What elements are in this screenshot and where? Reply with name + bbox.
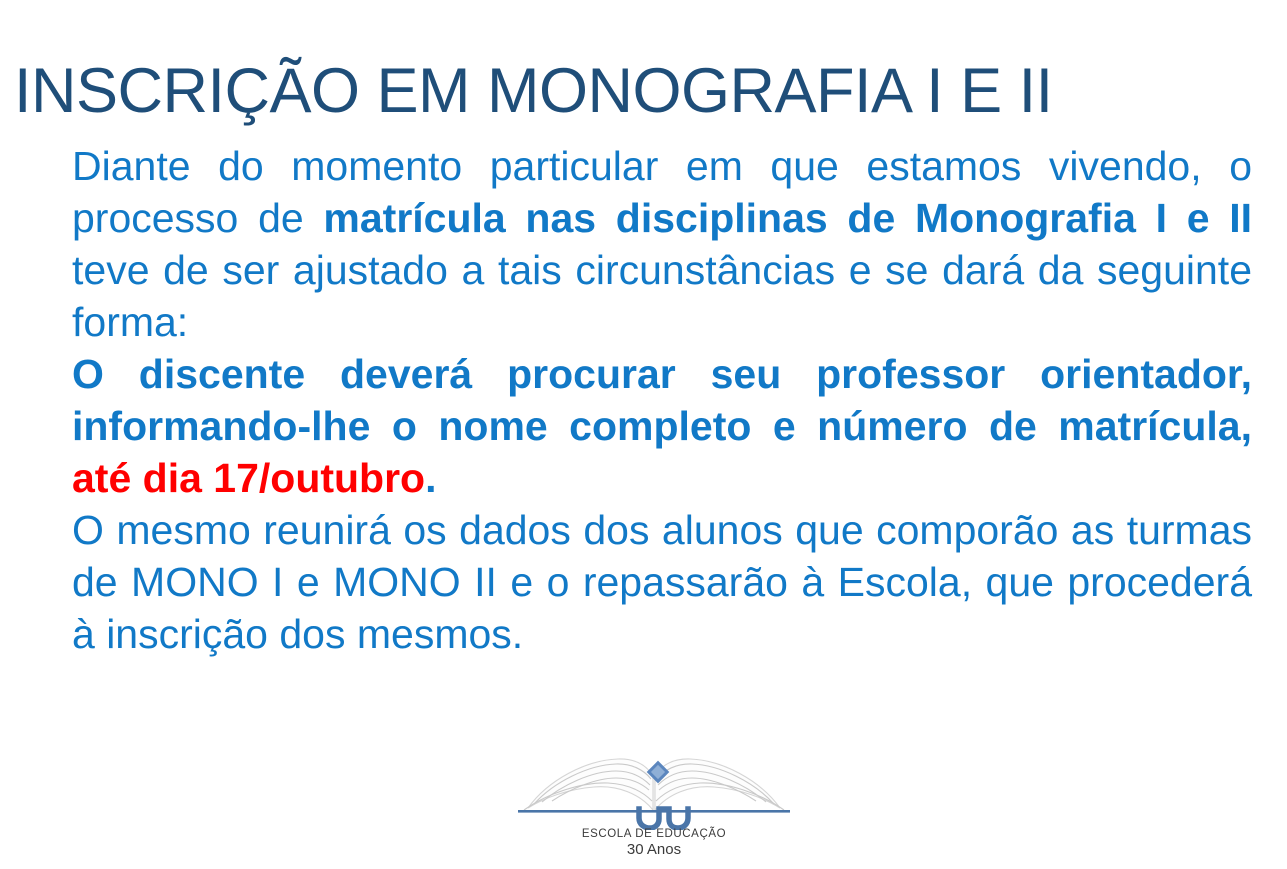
run-3a: O mesmo reunirá os dados dos alunos que …: [72, 507, 1252, 657]
logo-caption: ESCOLA DE EDUCAÇÃO 30 Anos: [508, 828, 800, 858]
book-spine: [653, 776, 655, 812]
deadline-highlight: até dia 17/outubro: [72, 455, 425, 501]
run-1c: teve de ser ajustado a tais circunstânci…: [72, 247, 1252, 345]
slide-root: INSCRIÇÃO EM MONOGRAFIA I E II Diante do…: [0, 0, 1287, 869]
paragraph-3: O mesmo reunirá os dados dos alunos que …: [72, 504, 1252, 660]
slide-body: Diante do momento particular em que esta…: [72, 140, 1252, 660]
page-title: INSCRIÇÃO EM MONOGRAFIA I E II: [14, 48, 1272, 134]
run-1b: matrícula nas disciplinas de Monografia …: [323, 195, 1252, 241]
run-2c: .: [425, 455, 436, 501]
paragraph-1: Diante do momento particular em que esta…: [72, 140, 1252, 348]
logo-caption-line1: ESCOLA DE EDUCAÇÃO: [508, 828, 800, 841]
logo-rule: [518, 810, 790, 813]
open-book-icon: [508, 752, 800, 830]
escola-de-educacao-logo: ESCOLA DE EDUCAÇÃO 30 Anos: [508, 752, 800, 864]
logo-caption-line2: 30 Anos: [508, 841, 800, 858]
run-2a: O discente deverá procurar seu professor…: [72, 351, 1252, 449]
paragraph-2: O discente deverá procurar seu professor…: [72, 348, 1252, 504]
